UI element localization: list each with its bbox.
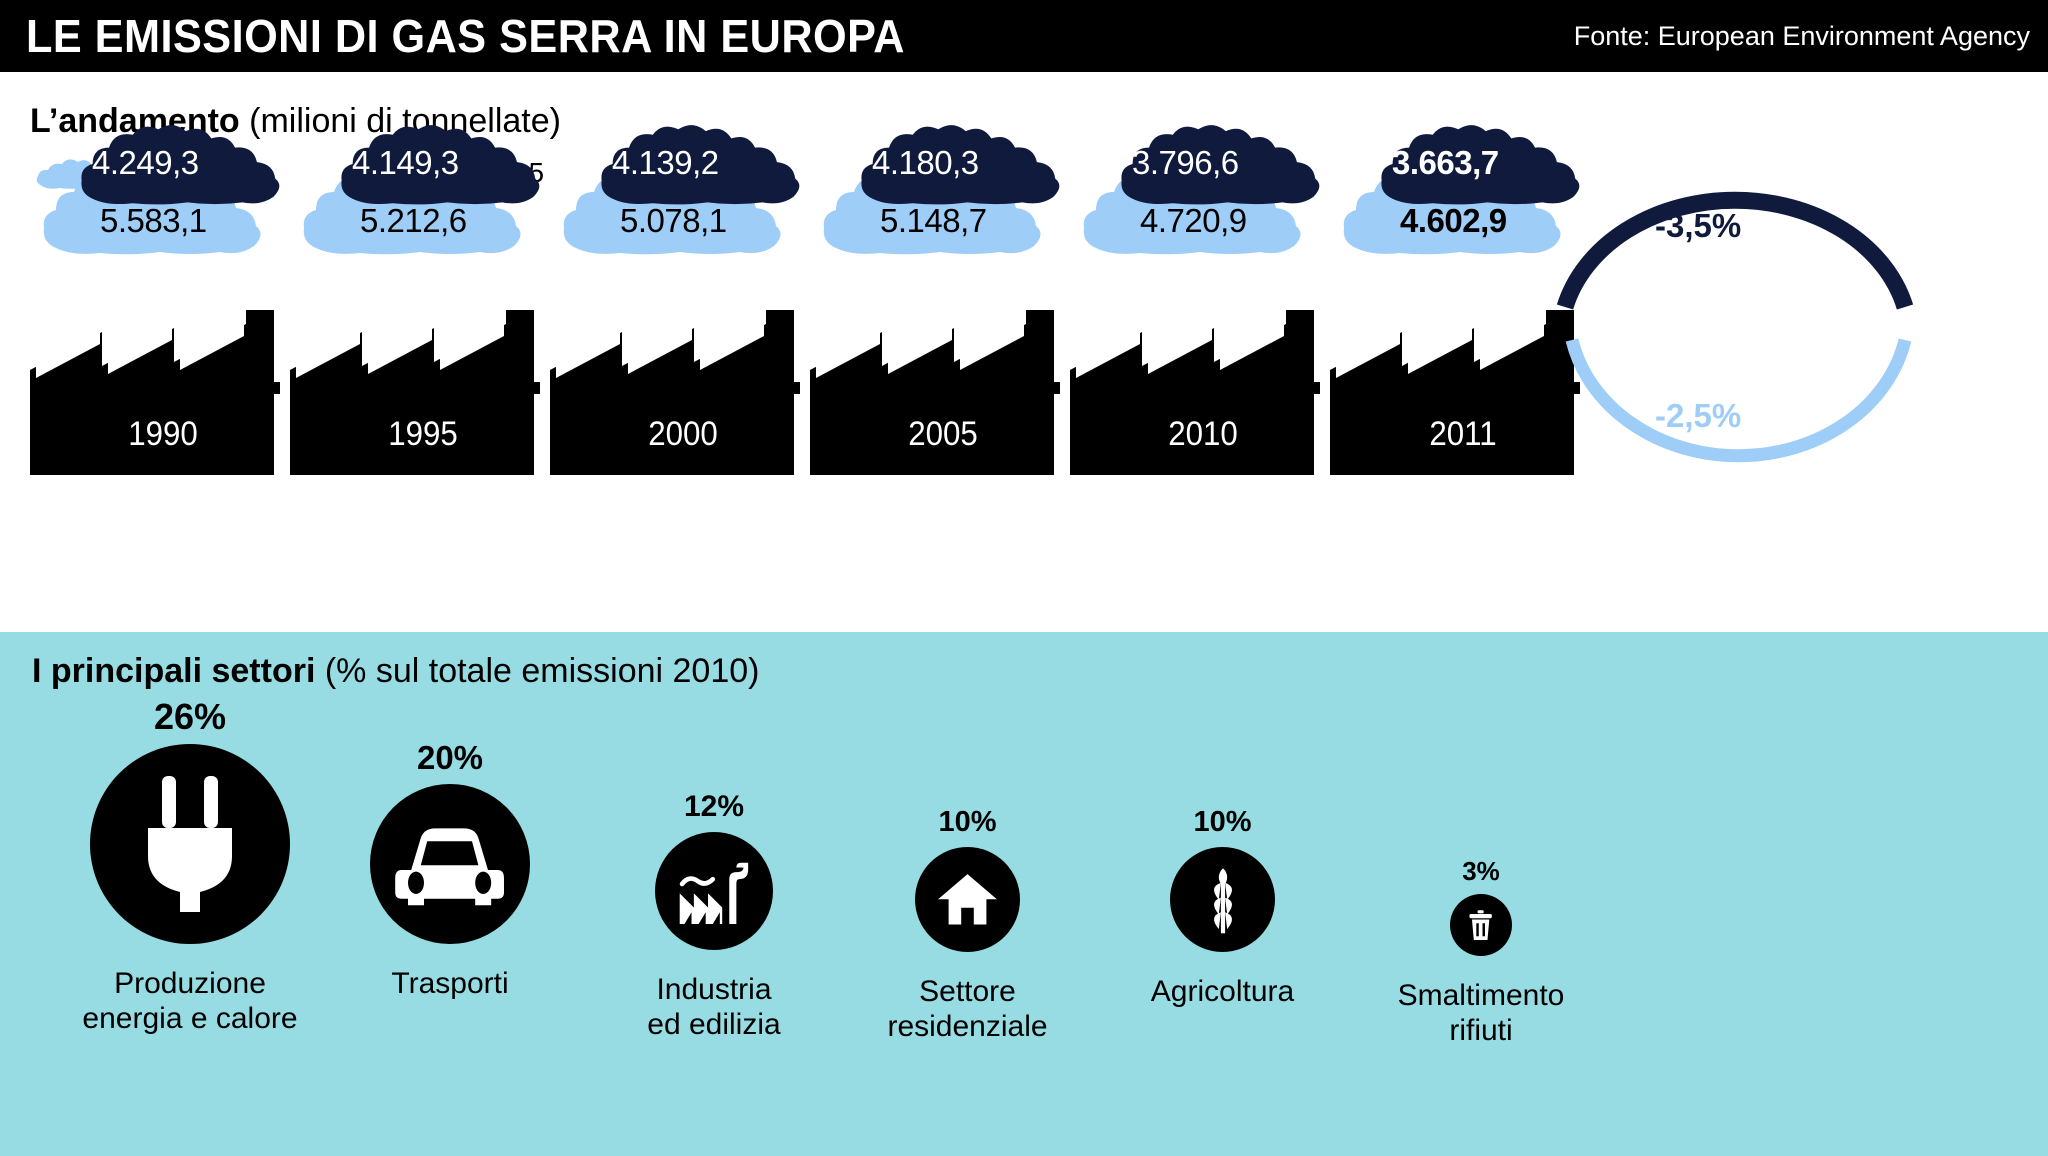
sector-item-3: 12% Industriaed edilizia <box>595 632 833 1152</box>
value-ue27-1990: 5.583,1 <box>100 202 207 240</box>
sector-percent-6: 3% <box>1390 856 1572 887</box>
year-group-2000: 4.139,25.078,1 2000 <box>550 72 816 492</box>
year-label-2005: 2005 <box>821 415 1066 454</box>
sector-label-5: Agricoltura <box>1110 974 1335 1009</box>
source-attribution: Fonte: European Environment Agency <box>1574 21 2030 52</box>
sector-label-6: Smaltimentorifiuti <box>1390 978 1572 1049</box>
trash-icon <box>1467 909 1494 941</box>
year-label-1995: 1995 <box>301 415 546 454</box>
sector-circle-1 <box>90 744 290 944</box>
year-group-2005: 4.180,35.148,7 2005 <box>810 72 1076 492</box>
value-ue15-1995: 4.149,3 <box>352 144 459 182</box>
value-ue27-2011: 4.602,9 <box>1400 202 1507 240</box>
sector-circle-5 <box>1170 847 1275 952</box>
sector-percent-2: 20% <box>310 739 590 777</box>
infographic-page: LE EMISSIONI DI GAS SERRA IN EUROPA Font… <box>0 0 2048 1156</box>
sector-label-3: Industriaed edilizia <box>595 972 833 1043</box>
sector-label-2: Trasporti <box>310 966 590 1001</box>
value-ue27-2010: 4.720,9 <box>1140 202 1247 240</box>
year-label-1990: 1990 <box>41 415 286 454</box>
sector-item-4: 10% Settoreresidenziale <box>855 632 1080 1152</box>
wheat-icon <box>1202 864 1244 935</box>
sector-item-2: 20% Trasporti <box>310 632 590 1152</box>
sector-item-5: 10% Agricoltura <box>1110 632 1335 1152</box>
car-icon <box>392 822 507 905</box>
value-ue15-1990: 4.249,3 <box>92 144 199 182</box>
sector-item-1: 26% Produzioneenergia e calore <box>30 632 350 1152</box>
trend-section: L’andamento (milioni di tonnellate) UE27… <box>0 72 2048 632</box>
sector-circle-2 <box>370 784 530 944</box>
sector-circle-3 <box>655 832 773 950</box>
factory-icon <box>675 858 753 924</box>
year-group-1995: 4.149,35.212,6 1995 <box>290 72 556 492</box>
value-ue15-2000: 4.139,2 <box>612 144 719 182</box>
sector-circle-6 <box>1450 894 1512 956</box>
year-label-2010: 2010 <box>1081 415 1326 454</box>
sector-label-4: Settoreresidenziale <box>855 974 1080 1045</box>
value-ue15-2010: 3.796,6 <box>1132 144 1239 182</box>
value-ue15-2005: 4.180,3 <box>872 144 979 182</box>
change-label-ue15: -3,5% <box>1655 207 1741 245</box>
sector-item-6: 3% Smaltimentorifiuti <box>1390 632 1572 1152</box>
header-bar: LE EMISSIONI DI GAS SERRA IN EUROPA Font… <box>0 0 2048 72</box>
change-label-ue27: -2,5% <box>1655 397 1741 435</box>
sector-percent-3: 12% <box>595 790 833 824</box>
sector-percent-4: 10% <box>855 806 1080 839</box>
sector-label-1: Produzioneenergia e calore <box>30 966 350 1037</box>
house-icon <box>936 872 999 927</box>
value-ue27-2000: 5.078,1 <box>620 202 727 240</box>
value-ue15-2011: 3.663,7 <box>1392 144 1499 182</box>
year-label-2000: 2000 <box>561 415 806 454</box>
plug-icon <box>134 776 246 912</box>
sector-percent-5: 10% <box>1110 806 1335 839</box>
year-group-2011: 3.663,74.602,9 2011 <box>1330 72 1596 492</box>
sectors-section: I principali settori (% sul totale emiss… <box>0 632 2048 1156</box>
year-label-2011: 2011 <box>1341 415 1586 454</box>
sector-circle-4 <box>915 847 1020 952</box>
sector-percent-1: 26% <box>30 696 350 738</box>
year-group-1990: 4.249,35.583,1 1990 <box>30 72 296 492</box>
value-ue27-1995: 5.212,6 <box>360 202 467 240</box>
value-ue27-2005: 5.148,7 <box>880 202 987 240</box>
page-title: LE EMISSIONI DI GAS SERRA IN EUROPA <box>26 9 905 63</box>
year-group-2010: 3.796,64.720,9 2010 <box>1070 72 1336 492</box>
